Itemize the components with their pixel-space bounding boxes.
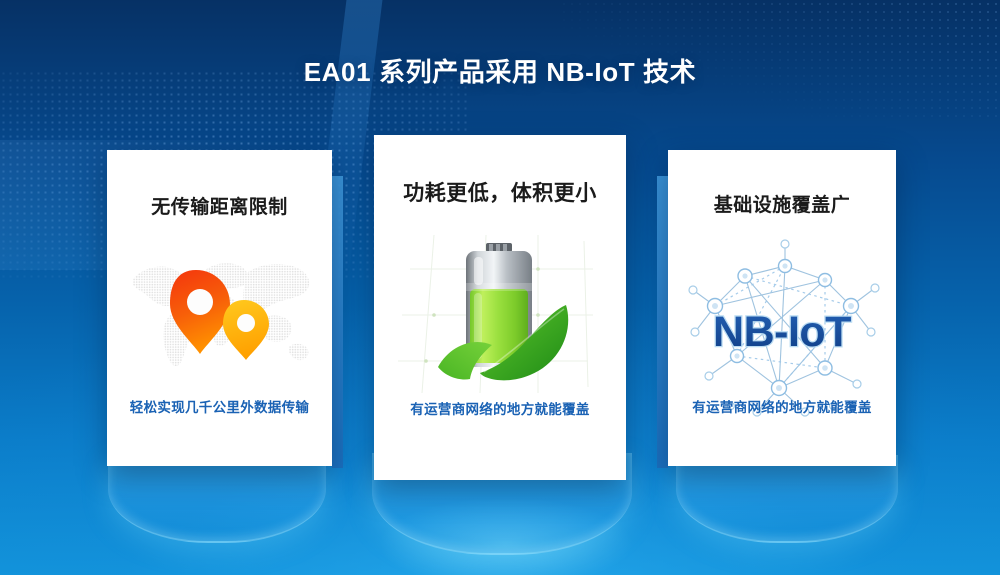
card-title: 功耗更低，体积更小 <box>374 177 626 207</box>
card-title: 基础设施覆盖广 <box>668 190 896 217</box>
green-battery-leaf-icon <box>374 227 626 412</box>
feature-card-no-distance-limit[interactable]: 无传输距离限制 <box>107 150 332 466</box>
world-map-location-pins-icon <box>107 242 332 402</box>
card-caption: 有运营商网络的地方就能覆盖 <box>374 398 626 418</box>
pedestal-1 <box>108 455 326 543</box>
pedestal-3 <box>676 455 898 543</box>
card-caption: 轻松实现几千公里外数据传输 <box>107 396 332 416</box>
feature-card-wide-infrastructure-coverage[interactable]: 基础设施覆盖广 <box>668 150 896 466</box>
page-title: EA01 系列产品采用 NB-IoT 技术 <box>0 52 1000 89</box>
card-accent-bar-3 <box>657 176 668 468</box>
pedestal-glow <box>330 479 682 575</box>
feature-card-lower-power-smaller-size[interactable]: 功耗更低，体积更小 <box>374 135 626 480</box>
card-caption: 有运营商网络的地方就能覆盖 <box>668 396 896 416</box>
card-accent-bar-1 <box>332 176 343 468</box>
slide-canvas: EA01 系列产品采用 NB-IoT 技术 无传输距离限制 <box>0 0 1000 575</box>
card-title: 无传输距离限制 <box>107 192 332 219</box>
nb-iot-logo-text: NB-IoT <box>713 308 851 356</box>
